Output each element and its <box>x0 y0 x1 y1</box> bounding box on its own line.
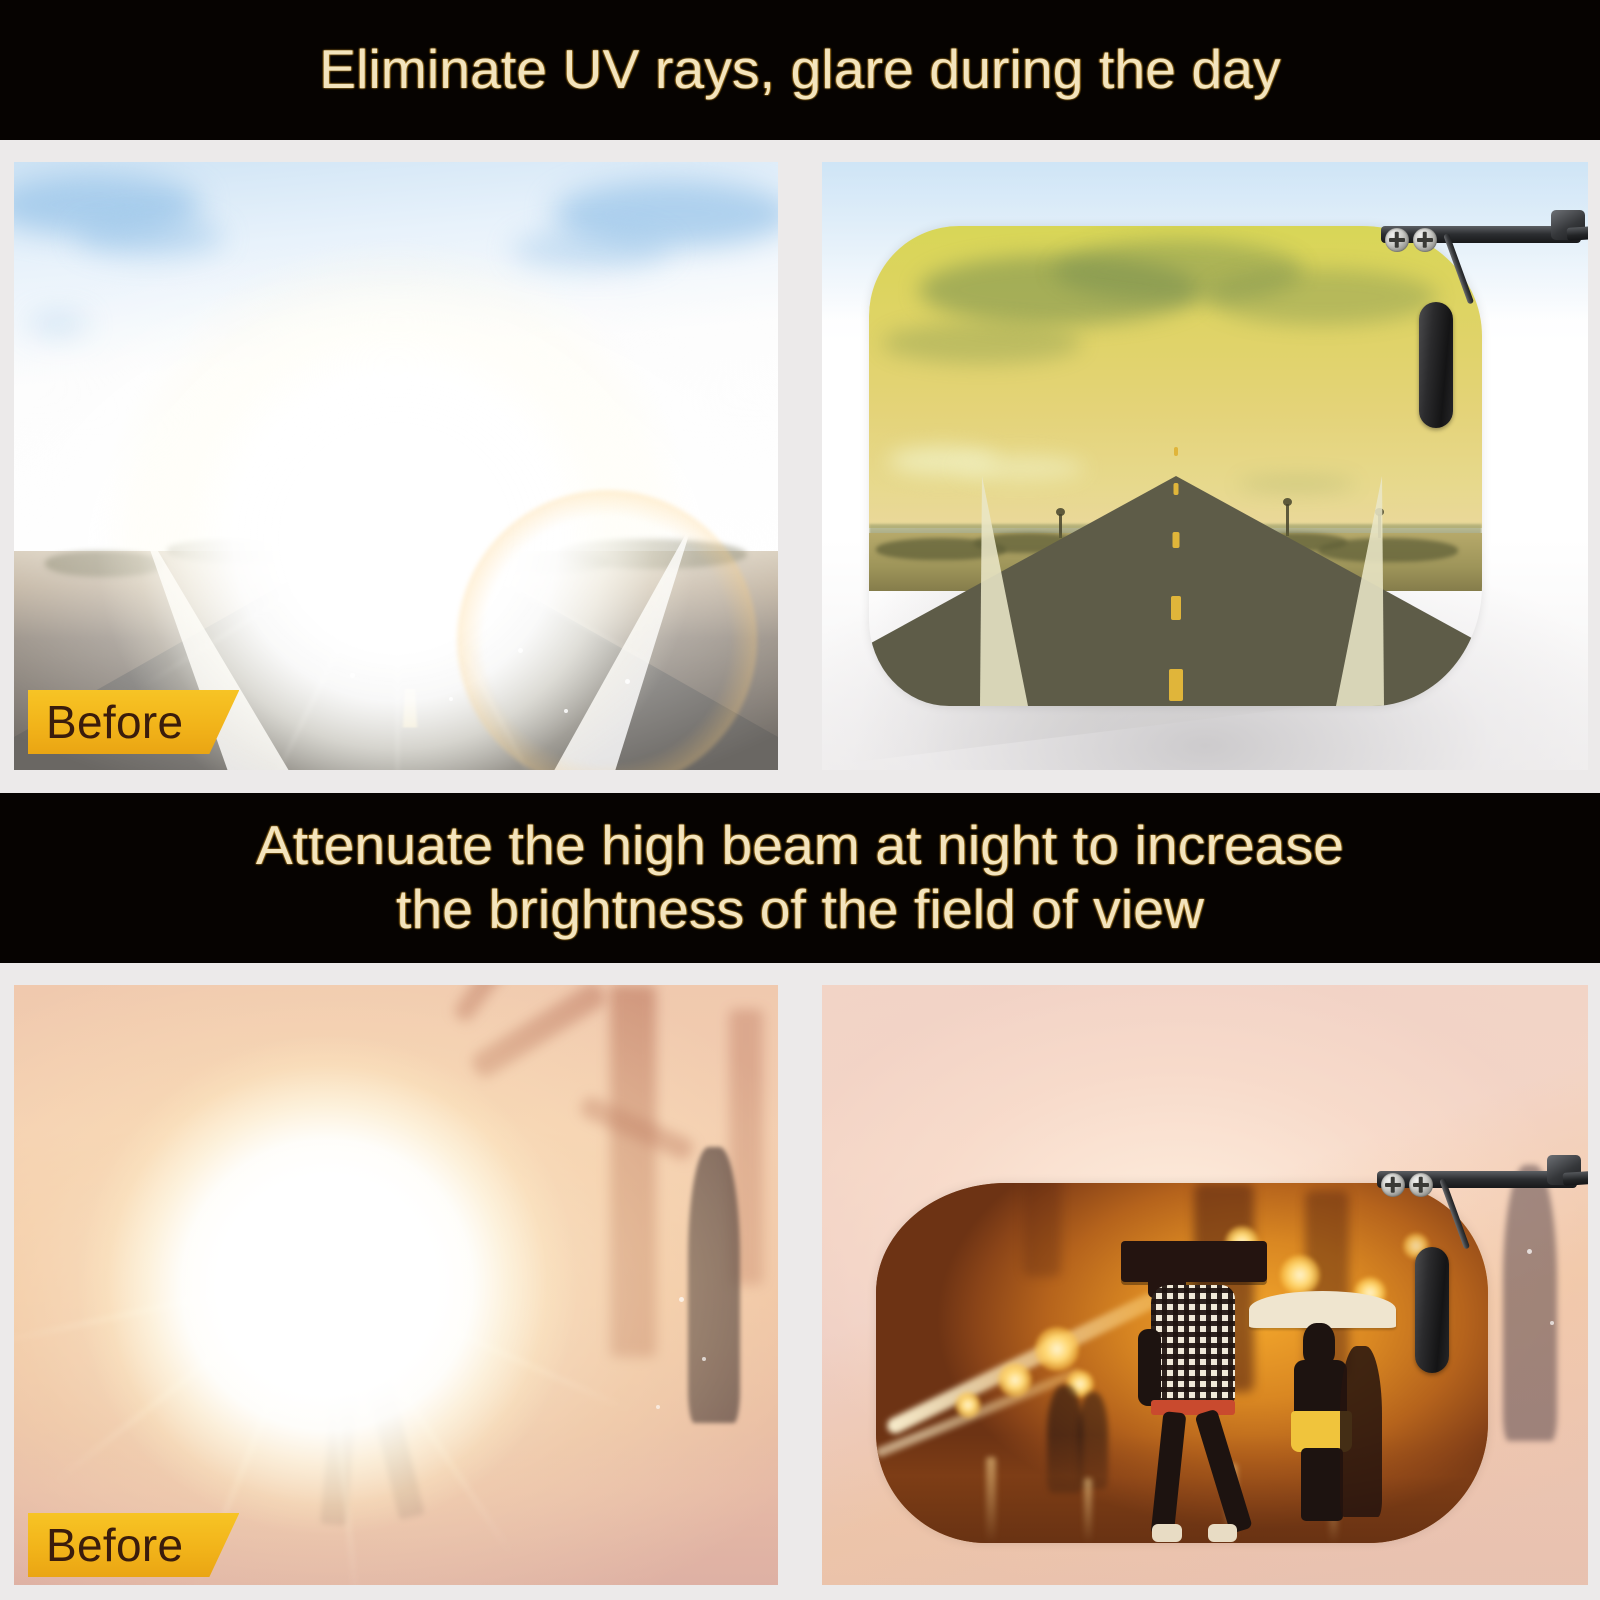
screw-icon <box>1413 228 1437 252</box>
nighttime-before-panel: Before <box>14 985 778 1585</box>
nighttime-comparison-row: Before <box>0 963 1600 1600</box>
carried-board <box>1121 1241 1267 1282</box>
product-comparison-infographic: Eliminate UV rays, glare during the day <box>0 0 1600 1600</box>
rain-speck <box>679 1297 684 1302</box>
lens-flare-ring <box>457 490 757 770</box>
daytime-before-scene <box>14 162 778 770</box>
center-dash <box>1173 483 1178 495</box>
lens-cloud <box>882 322 1082 364</box>
shoe <box>1152 1524 1182 1542</box>
leg <box>1195 1408 1253 1533</box>
top-caption-text: Eliminate UV rays, glare during the day <box>279 38 1321 102</box>
screw-icon <box>1385 228 1409 252</box>
daytime-comparison-row: Before <box>0 140 1600 793</box>
checkered-jacket <box>1151 1285 1235 1403</box>
high-beam-glare-overlay <box>14 985 778 1585</box>
middle-caption-text: Attenuate the high beam at night to incr… <box>216 814 1384 942</box>
badge-before-night: Before <box>28 1513 239 1577</box>
reflection-streak <box>986 1457 996 1543</box>
walking-pedestrian <box>1127 1241 1262 1536</box>
top-caption-band: Eliminate UV rays, glare during the day <box>0 0 1600 140</box>
badge-before-day: Before <box>28 690 239 754</box>
street-light <box>998 1363 1032 1397</box>
lens-edge-line-left <box>980 476 1028 706</box>
rain-speck <box>702 1357 706 1361</box>
reflection-streak <box>1084 1478 1092 1543</box>
daytime-after-scene <box>822 162 1588 770</box>
rain-speck <box>1527 1249 1532 1254</box>
umbrella-couple <box>1262 1291 1385 1521</box>
lens-cloud <box>1207 269 1437 325</box>
tree-trunk <box>1023 1183 1061 1277</box>
rubber-clip-pad <box>1415 1247 1449 1373</box>
legs <box>1301 1448 1343 1522</box>
center-dash <box>1172 532 1179 548</box>
daytime-after-panel: After <box>822 162 1588 770</box>
street-light <box>955 1392 981 1418</box>
middle-caption-band: Attenuate the high beam at night to incr… <box>0 793 1600 963</box>
clip-on-lens-day <box>869 226 1482 706</box>
clip-on-lens-night <box>876 1183 1489 1543</box>
rain-speck <box>656 1405 660 1409</box>
water-speck <box>625 679 630 684</box>
street-light <box>1280 1255 1320 1295</box>
nighttime-after-scene <box>822 985 1588 1585</box>
center-dash <box>1171 596 1181 620</box>
companion-silhouette <box>1340 1346 1382 1516</box>
nighttime-after-panel: After <box>822 985 1588 1585</box>
water-speck <box>350 673 355 678</box>
shoe <box>1208 1524 1238 1542</box>
street-light <box>1035 1327 1079 1371</box>
nighttime-before-scene <box>14 985 778 1585</box>
head <box>1303 1323 1335 1364</box>
lens-edge-line-right <box>1336 476 1384 706</box>
daytime-before-panel: Before <box>14 162 778 770</box>
center-dash <box>1174 447 1178 456</box>
center-dash <box>1169 669 1183 701</box>
rubber-clip-pad <box>1419 302 1453 428</box>
leg <box>1150 1411 1186 1537</box>
shoulder-bag <box>1138 1329 1161 1406</box>
rain-speck <box>1550 1321 1554 1325</box>
background-pedestrian <box>1503 1165 1557 1441</box>
